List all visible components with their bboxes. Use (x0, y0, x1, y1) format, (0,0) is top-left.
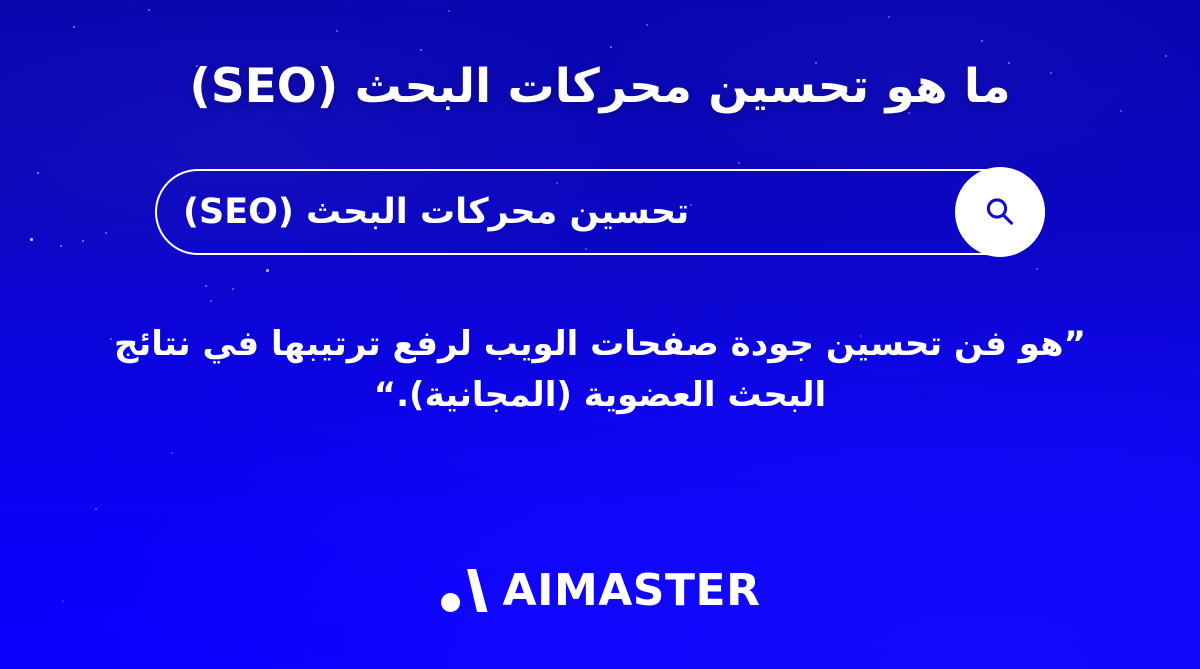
search-button[interactable] (955, 167, 1045, 257)
search-input[interactable]: تحسين محركات البحث (SEO) (183, 192, 689, 232)
page-title: ما هو تحسين محركات البحث (SEO) (70, 58, 1130, 117)
seo-promo-card: ما هو تحسين محركات البحث (SEO) تحسين محر… (0, 0, 1200, 669)
search-bar-container: تحسين محركات البحث (SEO) (0, 169, 1200, 255)
aimaster-mark-icon (440, 569, 490, 613)
search-icon (980, 192, 1020, 232)
brand-logo: AIMASTER (440, 569, 761, 613)
quote-text: ”هو فن تحسين جودة صفحات الويب لرفع ترتيب… (70, 319, 1130, 422)
brand-name: AIMASTER (503, 569, 761, 613)
search-bar[interactable]: تحسين محركات البحث (SEO) (155, 169, 1045, 255)
card-content: ما هو تحسين محركات البحث (SEO) تحسين محر… (0, 0, 1200, 669)
